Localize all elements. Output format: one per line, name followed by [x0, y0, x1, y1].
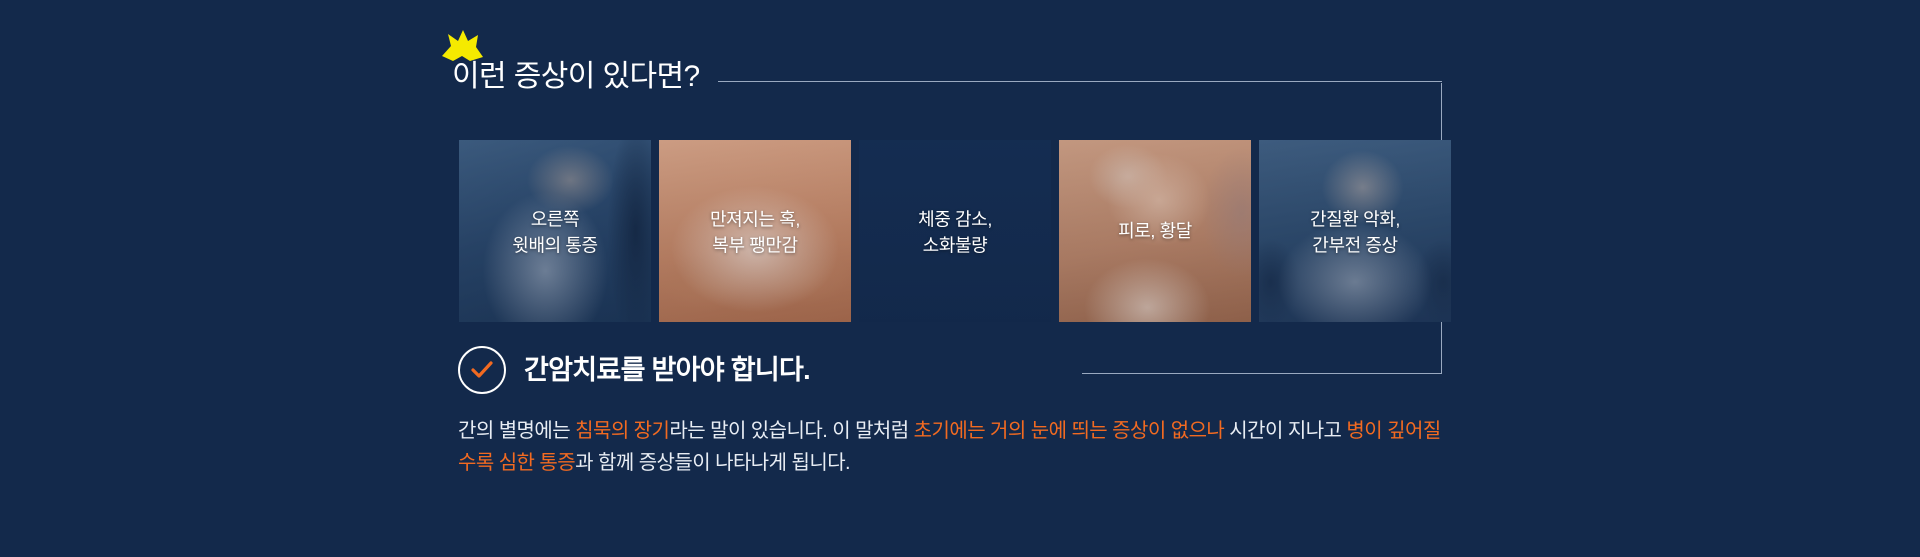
card-caption-line1: 오른쪽	[465, 207, 645, 233]
card-caption: 간질환 악화, 간부전 증상	[1259, 207, 1451, 258]
connector-line-horizontal	[1082, 373, 1442, 374]
card-caption-line2: 윗배의 통증	[465, 233, 645, 259]
paragraph-emphasis-3: 초기에는 거의 눈에 띄는 증상이 없으나	[914, 420, 1225, 442]
symptom-card[interactable]: 체중 감소, 소화불량	[859, 140, 1051, 322]
page-title: 이런 증상이 있다면?	[452, 62, 700, 94]
paragraph-text-0: 간의 별명에는	[458, 420, 575, 442]
paragraph-emphasis-1: 침묵의 장기	[575, 420, 669, 442]
card-caption-line2: 복부 팽만감	[665, 233, 845, 259]
card-caption-line2: 간부전 증상	[1265, 233, 1445, 259]
card-caption-line1: 체중 감소,	[865, 207, 1045, 233]
section-header: 이런 증상이 있다면?	[452, 52, 1442, 94]
card-caption-line1: 간질환 악화,	[1265, 207, 1445, 233]
card-caption: 오른쪽 윗배의 통증	[459, 207, 651, 258]
card-caption-line1: 만져지는 혹,	[665, 207, 845, 233]
card-caption: 피로, 황달	[1059, 219, 1251, 245]
symptom-card[interactable]: 피로, 황달	[1059, 140, 1251, 322]
paragraph-text-6: 과 함께 증상들이 나타나게 됩니다.	[575, 452, 850, 474]
conclusion-rest: 를 받아야 합니다.	[621, 355, 810, 385]
conclusion-row: 간암치료를 받아야 합니다.	[458, 348, 810, 392]
header-rule	[718, 81, 1442, 82]
paragraph-text-4: 시간이 지나고	[1224, 420, 1346, 442]
description-paragraph: 간의 별명에는 침묵의 장기라는 말이 있습니다. 이 말처럼 초기에는 거의 …	[458, 415, 1458, 480]
symptom-card[interactable]: 오른쪽 윗배의 통증	[459, 140, 651, 322]
check-mark-icon	[458, 346, 506, 394]
symptom-card-list: 오른쪽 윗배의 통증 만져지는 혹, 복부 팽만감 체중 감소, 소화불량	[459, 140, 1444, 322]
symptom-card[interactable]: 만져지는 혹, 복부 팽만감	[659, 140, 851, 322]
card-caption-line1: 피로, 황달	[1065, 219, 1245, 245]
card-caption: 만져지는 혹, 복부 팽만감	[659, 207, 851, 258]
card-caption: 체중 감소, 소화불량	[859, 207, 1051, 258]
card-caption-line2: 소화불량	[865, 233, 1045, 259]
promo-banner: 이런 증상이 있다면? 오른쪽 윗배의 통증 만져지는 혹, 복부 팽만감	[0, 0, 1920, 557]
conclusion-highlight: 간암치료	[524, 355, 621, 385]
paragraph-text-2: 라는 말이 있습니다. 이 말처럼	[669, 420, 913, 442]
symptom-card[interactable]: 간질환 악화, 간부전 증상	[1259, 140, 1451, 322]
conclusion-text: 간암치료를 받아야 합니다.	[524, 357, 810, 384]
